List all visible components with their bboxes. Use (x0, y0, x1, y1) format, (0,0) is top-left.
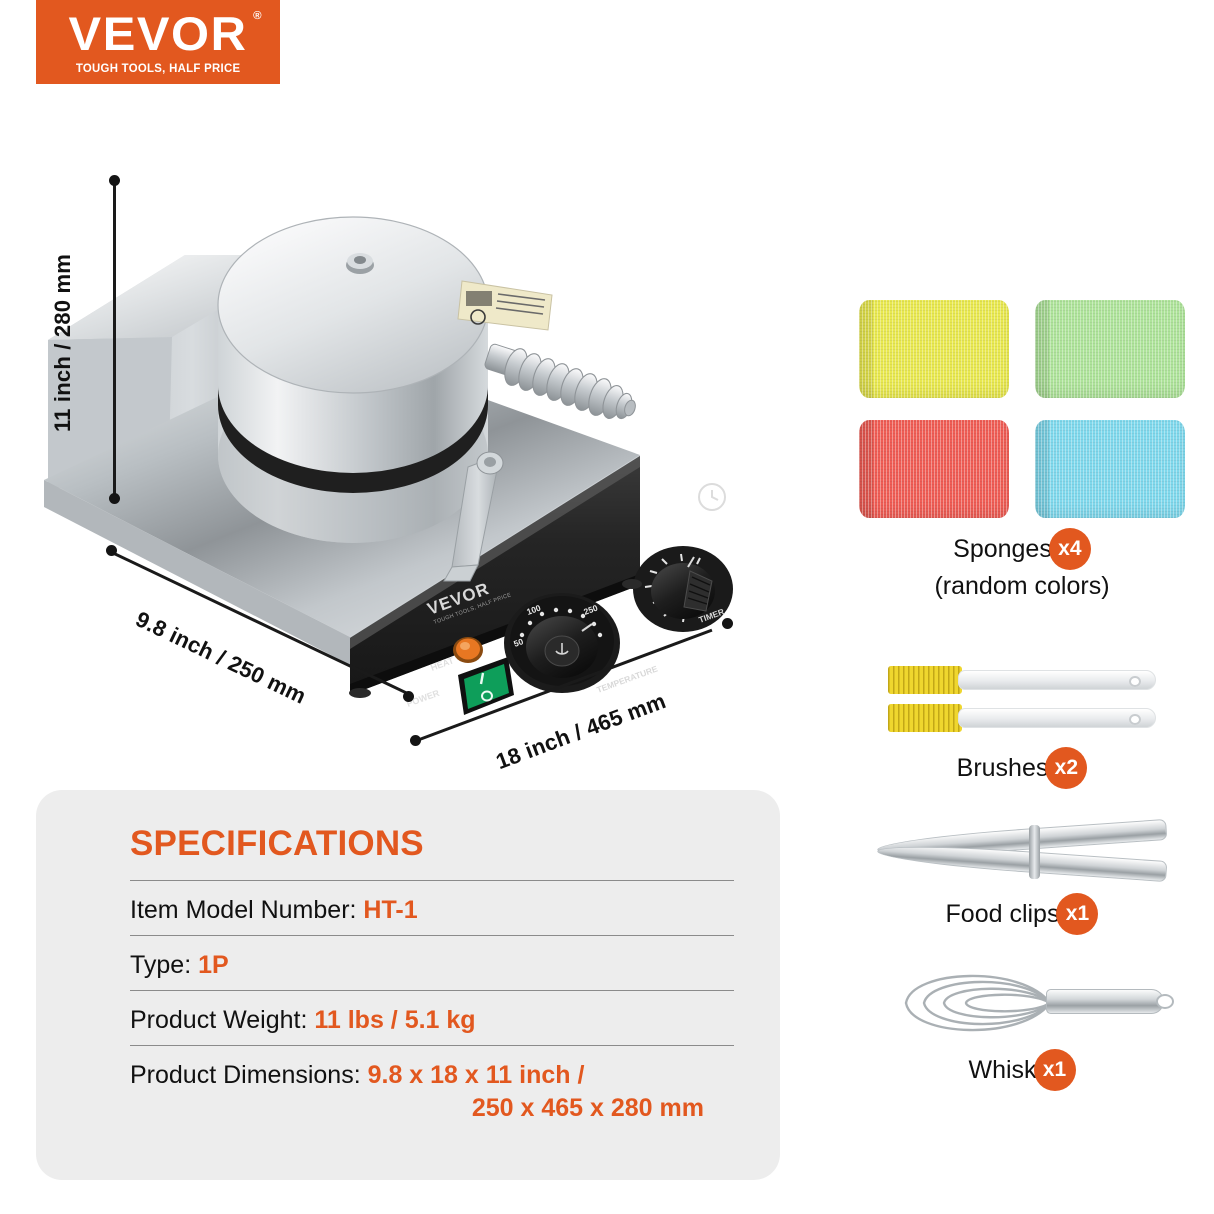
spec-value-type: 1P (198, 951, 229, 979)
clock-icon (699, 484, 725, 510)
spec-row-dimensions: Product Dimensions: 9.8 x 18 x 11 inch /… (130, 1045, 734, 1127)
brush-bristles (888, 704, 962, 732)
sponges-caption: Sponges x4 (830, 528, 1214, 570)
brand-wordmark: VEVOR ® (69, 10, 248, 57)
width-dimension-dot-end (722, 618, 733, 629)
brush-bristles (888, 666, 962, 694)
food-clips-name: Food clips (946, 900, 1060, 929)
spec-value-dimensions: 9.8 x 18 x 11 inch / (368, 1061, 585, 1089)
food-tongs-icon (877, 825, 1167, 883)
food-clips-qty-badge: x1 (1056, 893, 1098, 935)
whisk-qty-badge: x1 (1034, 1049, 1076, 1091)
accessory-whisk: Whisk x1 (830, 967, 1214, 1091)
sponge-yellow (859, 300, 1009, 398)
sponges-name: Sponges (953, 535, 1052, 564)
spec-row-model: Item Model Number: HT-1 (130, 880, 734, 935)
spec-label-model: Item Model Number: (130, 896, 356, 924)
accessory-brushes: Brushes x2 (830, 661, 1214, 789)
brush-handle (958, 670, 1156, 690)
spec-value-weight: 11 lbs / 5.1 kg (314, 1006, 475, 1034)
brushes-caption: Brushes x2 (830, 747, 1214, 789)
brush-hang-hole (1129, 676, 1141, 687)
basting-brush-icon (888, 661, 1156, 737)
sponge-green (1035, 300, 1185, 398)
timer-knob (633, 546, 733, 632)
accessories-list: Sponges x4 (random colors) (830, 300, 1214, 1095)
tongs-lock-ring (1029, 825, 1040, 879)
brushes-name: Brushes (957, 754, 1049, 783)
whisk-handle (1046, 989, 1164, 1014)
width-dimension-dot-start (410, 735, 421, 746)
specifications-title: SPECIFICATIONS (130, 824, 734, 864)
temperature-knob: 50 100 250 (504, 593, 620, 693)
product-illustration: VEVOR TOUGH TOOLS, HALF PRICE HEAT (0, 95, 800, 775)
brushes-qty-badge: x2 (1045, 747, 1087, 789)
sponge-red (859, 420, 1009, 518)
whisk-caption: Whisk x1 (830, 1049, 1214, 1091)
height-dimension-line (113, 180, 116, 498)
height-dimension-dot-bottom (109, 493, 120, 504)
accessory-food-clips: Food clips x1 (830, 825, 1214, 935)
brush-handle (958, 708, 1156, 728)
height-dimension-dot-top (109, 175, 120, 186)
tongs-body (877, 825, 1167, 879)
whisk-name: Whisk (968, 1056, 1036, 1085)
food-clips-caption: Food clips x1 (830, 893, 1214, 935)
vevor-logo: VEVOR ® TOUGH TOOLS, HALF PRICE (36, 0, 280, 84)
height-dimension-label: 11 inch / 280 mm (50, 254, 76, 432)
whisk-icon (872, 967, 1172, 1039)
spec-label-weight: Product Weight: (130, 1006, 307, 1034)
spec-row-type: Type: 1P (130, 935, 734, 990)
brush-2 (888, 701, 1156, 735)
spec-row-weight: Product Weight: 11 lbs / 5.1 kg (130, 990, 734, 1045)
sponge-blue (1035, 420, 1185, 518)
sponges-note: (random colors) (830, 572, 1214, 601)
sponge-icon (830, 300, 1214, 518)
specifications-panel: SPECIFICATIONS Item Model Number: HT-1 T… (36, 790, 780, 1180)
spec-value-dimensions-line2: 250 x 465 x 280 mm (130, 1092, 734, 1125)
brush-1 (888, 663, 1156, 697)
registered-mark: ® (253, 11, 263, 22)
depth-dimension-dot-end (403, 691, 414, 702)
accessory-sponges: Sponges x4 (random colors) (830, 300, 1214, 601)
brand-tagline: TOUGH TOOLS, HALF PRICE (76, 63, 241, 75)
whisk-hang-loop (1156, 994, 1174, 1009)
heat-indicator-lamp (453, 637, 483, 663)
spec-label-type: Type: (130, 951, 191, 979)
depth-dimension-dot-start (106, 545, 117, 556)
top-bolt (346, 253, 374, 274)
brand-name: VEVOR (69, 7, 248, 60)
product-spec-sheet: VEVOR ® TOUGH TOOLS, HALF PRICE (0, 0, 1214, 1214)
spec-value-model: HT-1 (363, 896, 417, 924)
sponges-qty-badge: x4 (1049, 528, 1091, 570)
waffle-maker-drawing: VEVOR TOUGH TOOLS, HALF PRICE HEAT (0, 95, 800, 775)
spec-label-dimensions: Product Dimensions: (130, 1061, 361, 1089)
brush-hang-hole (1129, 714, 1141, 725)
